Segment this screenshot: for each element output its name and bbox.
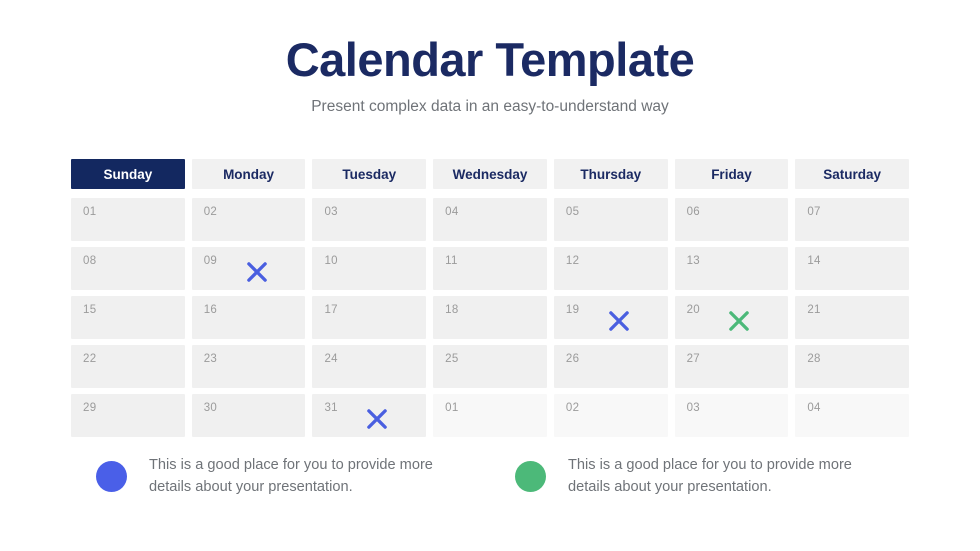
date-cell[interactable]: 02 (192, 198, 306, 241)
date-cell[interactable]: 23 (192, 345, 306, 388)
date-cell[interactable]: 06 (675, 198, 789, 241)
date-number: 03 (687, 402, 700, 414)
date-number: 15 (83, 304, 96, 316)
date-number: 14 (807, 255, 820, 267)
calendar-grid: SundayMondayTuesdayWednesdayThursdayFrid… (71, 159, 909, 437)
date-cell[interactable]: 31 (312, 394, 426, 437)
date-cell[interactable]: 03 (312, 198, 426, 241)
date-cell[interactable]: 16 (192, 296, 306, 339)
date-cell[interactable]: 02 (554, 394, 668, 437)
date-number: 09 (204, 255, 217, 267)
legend: This is a good place for you to provide … (71, 455, 909, 499)
date-cell[interactable]: 10 (312, 247, 426, 290)
page-title: Calendar Template (0, 34, 980, 86)
date-cell[interactable]: 13 (675, 247, 789, 290)
date-cell[interactable]: 04 (433, 198, 547, 241)
date-cell[interactable]: 12 (554, 247, 668, 290)
x-mark-icon (364, 406, 390, 432)
date-number: 04 (445, 206, 458, 218)
date-cell[interactable]: 04 (795, 394, 909, 437)
calendar-weeks: 0102030405060708091011121314151617181920… (71, 198, 909, 437)
date-cell[interactable]: 30 (192, 394, 306, 437)
date-cell[interactable]: 08 (71, 247, 185, 290)
calendar-week-row: 15161718192021 (71, 296, 909, 339)
date-number: 20 (687, 304, 700, 316)
legend-item: This is a good place for you to provide … (71, 455, 490, 499)
date-cell[interactable]: 03 (675, 394, 789, 437)
date-cell[interactable]: 28 (795, 345, 909, 388)
day-header-saturday[interactable]: Saturday (795, 159, 909, 189)
date-cell[interactable]: 01 (433, 394, 547, 437)
date-number: 02 (204, 206, 217, 218)
date-number: 11 (445, 255, 458, 267)
date-number: 31 (324, 402, 337, 414)
page-subtitle: Present complex data in an easy-to-under… (0, 98, 980, 116)
date-cell[interactable]: 25 (433, 345, 547, 388)
slide-canvas: Calendar Template Present complex data i… (0, 0, 980, 551)
date-number: 13 (687, 255, 700, 267)
calendar-week-row: 22232425262728 (71, 345, 909, 388)
slide-header: Calendar Template Present complex data i… (0, 0, 980, 116)
date-number: 01 (83, 206, 96, 218)
date-number: 26 (566, 353, 579, 365)
calendar-week-row: 08091011121314 (71, 247, 909, 290)
date-number: 25 (445, 353, 458, 365)
date-cell[interactable]: 07 (795, 198, 909, 241)
date-number: 18 (445, 304, 458, 316)
date-number: 08 (83, 255, 96, 267)
date-number: 17 (324, 304, 337, 316)
date-cell[interactable]: 15 (71, 296, 185, 339)
date-number: 04 (807, 402, 820, 414)
date-number: 03 (324, 206, 337, 218)
date-cell[interactable]: 26 (554, 345, 668, 388)
day-header-thursday[interactable]: Thursday (554, 159, 668, 189)
date-cell[interactable]: 24 (312, 345, 426, 388)
x-mark-icon (244, 259, 270, 285)
legend-text: This is a good place for you to provide … (149, 455, 464, 499)
date-cell[interactable]: 09 (192, 247, 306, 290)
legend-text: This is a good place for you to provide … (568, 455, 883, 499)
date-number: 07 (807, 206, 820, 218)
date-number: 28 (807, 353, 820, 365)
date-number: 22 (83, 353, 96, 365)
x-mark-icon (606, 308, 632, 334)
calendar-week-row: 01020304050607 (71, 198, 909, 241)
day-header-monday[interactable]: Monday (192, 159, 306, 189)
circle-bullet-icon (96, 461, 127, 492)
day-header-tuesday[interactable]: Tuesday (312, 159, 426, 189)
date-number: 30 (204, 402, 217, 414)
date-number: 10 (324, 255, 337, 267)
calendar-header-row: SundayMondayTuesdayWednesdayThursdayFrid… (71, 159, 909, 189)
date-cell[interactable]: 19 (554, 296, 668, 339)
x-mark-icon (726, 308, 752, 334)
calendar-week-row: 29303101020304 (71, 394, 909, 437)
date-cell[interactable]: 20 (675, 296, 789, 339)
date-number: 27 (687, 353, 700, 365)
circle-bullet-icon (515, 461, 546, 492)
legend-item: This is a good place for you to provide … (490, 455, 909, 499)
date-cell[interactable]: 22 (71, 345, 185, 388)
date-cell[interactable]: 18 (433, 296, 547, 339)
date-number: 12 (566, 255, 579, 267)
day-header-wednesday[interactable]: Wednesday (433, 159, 547, 189)
date-cell[interactable]: 14 (795, 247, 909, 290)
date-cell[interactable]: 01 (71, 198, 185, 241)
day-header-friday[interactable]: Friday (675, 159, 789, 189)
date-number: 02 (566, 402, 579, 414)
date-cell[interactable]: 27 (675, 345, 789, 388)
date-number: 29 (83, 402, 96, 414)
date-cell[interactable]: 11 (433, 247, 547, 290)
date-number: 21 (807, 304, 820, 316)
date-number: 23 (204, 353, 217, 365)
date-cell[interactable]: 05 (554, 198, 668, 241)
day-header-sunday[interactable]: Sunday (71, 159, 185, 189)
date-cell[interactable]: 29 (71, 394, 185, 437)
date-number: 24 (324, 353, 337, 365)
date-number: 01 (445, 402, 458, 414)
date-number: 19 (566, 304, 579, 316)
date-cell[interactable]: 17 (312, 296, 426, 339)
date-number: 16 (204, 304, 217, 316)
date-cell[interactable]: 21 (795, 296, 909, 339)
date-number: 05 (566, 206, 579, 218)
date-number: 06 (687, 206, 700, 218)
